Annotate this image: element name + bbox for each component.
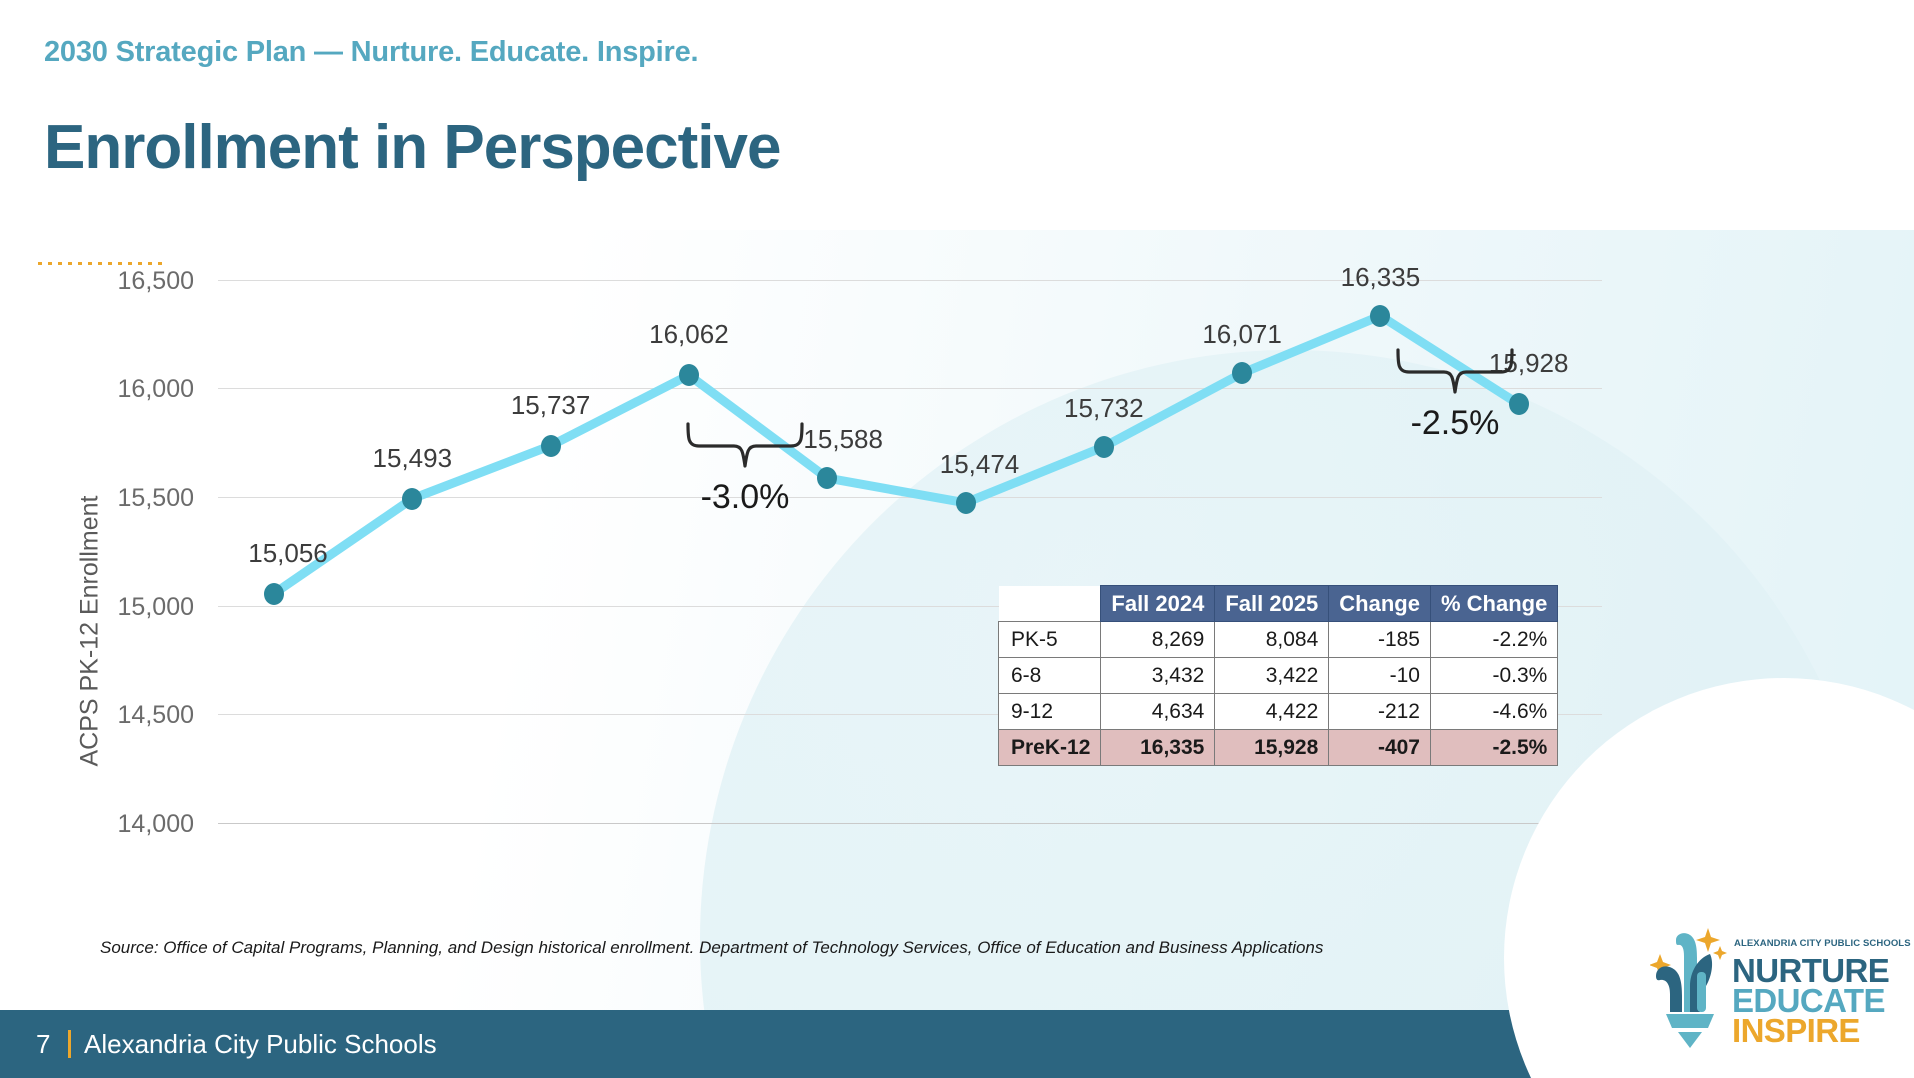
table-total-row: PreK-12 16,335 15,928 -407 -2.5% <box>999 730 1558 766</box>
cell-912-fall2024: 4,634 <box>1101 694 1215 730</box>
table-row: 6-8 3,432 3,422 -10 -0.3% <box>999 658 1558 694</box>
data-point-2019[interactable] <box>679 364 699 386</box>
logo-kicker-text: ALEXANDRIA CITY PUBLIC SCHOOLS <box>1734 938 1911 949</box>
cell-pk5-fall2024: 8,269 <box>1101 622 1215 658</box>
row-label-pk-5: PK-5 <box>999 622 1101 658</box>
enrollment-summary-table: Fall 2024 Fall 2025 Change % Change PK-5… <box>998 585 1558 766</box>
data-point-2018[interactable] <box>541 435 561 457</box>
cell-68-fall2024: 3,432 <box>1101 658 1215 694</box>
cell-pk5-change: -185 <box>1329 622 1431 658</box>
table-corner-cell <box>999 586 1101 622</box>
acps-nurture-educate-inspire-logo: ALEXANDRIA CITY PUBLIC SCHOOLS NURTURE E… <box>1648 908 1898 1058</box>
data-label-2023: 16,071 <box>1167 319 1317 350</box>
data-label-2017: 15,493 <box>337 443 487 474</box>
cell-total-fall2024: 16,335 <box>1101 730 1215 766</box>
page-title: Enrollment in Perspective <box>44 112 780 183</box>
curly-brace-icon <box>1395 348 1515 410</box>
column-header-change[interactable]: Change <box>1329 586 1431 622</box>
curly-brace-icon <box>685 422 805 484</box>
table-row: PK-5 8,269 8,084 -185 -2.2% <box>999 622 1558 658</box>
table-header-row: Fall 2024 Fall 2025 Change % Change <box>999 586 1558 622</box>
data-point-2022[interactable] <box>1094 436 1114 458</box>
footer-page-number: 7 <box>36 1029 50 1060</box>
slide-eyebrow: 2030 Strategic Plan — Nurture. Educate. … <box>44 36 698 69</box>
data-label-2018: 15,737 <box>476 390 626 421</box>
data-label-2016: 15,056 <box>213 538 363 569</box>
data-point-2016[interactable] <box>264 583 284 605</box>
annotation-label-2024-2025: -2.5% <box>1355 404 1555 443</box>
cell-pk5-pct: -2.2% <box>1430 622 1557 658</box>
source-note: Source: Office of Capital Programs, Plan… <box>100 938 1323 958</box>
annotation-label-2019-2020: -3.0% <box>645 478 845 517</box>
data-point-2021[interactable] <box>956 492 976 514</box>
column-header-fall-2025[interactable]: Fall 2025 <box>1215 586 1329 622</box>
annotation-brace-2019-2020: -3.0% <box>685 422 805 489</box>
cell-68-fall2025: 3,422 <box>1215 658 1329 694</box>
x-tickmark-end <box>1601 1073 1602 1078</box>
cell-total-change: -407 <box>1329 730 1431 766</box>
column-header-pct-change[interactable]: % Change <box>1430 586 1557 622</box>
column-header-fall-2024[interactable]: Fall 2024 <box>1101 586 1215 622</box>
logo-word-inspire: INSPIRE <box>1732 1012 1860 1050</box>
cell-total-fall2025: 15,928 <box>1215 730 1329 766</box>
table-row: 9-12 4,634 4,422 -212 -4.6% <box>999 694 1558 730</box>
data-point-2017[interactable] <box>402 488 422 510</box>
data-label-2019: 16,062 <box>614 319 764 350</box>
table-body: PK-5 8,269 8,084 -185 -2.2% 6-8 3,432 3,… <box>999 622 1558 766</box>
data-label-2024: 16,335 <box>1305 262 1455 293</box>
row-label-9-12: 9-12 <box>999 694 1101 730</box>
cell-total-pct: -2.5% <box>1430 730 1557 766</box>
footer-bar: 7 Alexandria City Public Schools <box>0 1010 1578 1078</box>
cell-912-change: -212 <box>1329 694 1431 730</box>
cell-68-change: -10 <box>1329 658 1431 694</box>
slide-canvas: 2030 Strategic Plan — Nurture. Educate. … <box>0 0 1914 1078</box>
cell-68-pct: -0.3% <box>1430 658 1557 694</box>
footer-divider <box>68 1030 71 1058</box>
row-label-prek-12: PreK-12 <box>999 730 1101 766</box>
footer-organization: Alexandria City Public Schools <box>84 1029 437 1060</box>
enrollment-line-chart: ACPS PK-12 Enrollment 16,500 16,000 15,5… <box>0 250 1700 900</box>
cell-912-fall2025: 4,422 <box>1215 694 1329 730</box>
data-label-2021: 15,474 <box>905 449 1055 480</box>
cell-pk5-fall2025: 8,084 <box>1215 622 1329 658</box>
pencil-leaves-logo-icon <box>1650 924 1730 1054</box>
annotation-brace-2024-2025: -2.5% <box>1395 348 1515 415</box>
cell-912-pct: -4.6% <box>1430 694 1557 730</box>
data-label-2022: 15,732 <box>1029 393 1179 424</box>
row-label-6-8: 6-8 <box>999 658 1101 694</box>
table-header: Fall 2024 Fall 2025 Change % Change <box>999 586 1558 622</box>
